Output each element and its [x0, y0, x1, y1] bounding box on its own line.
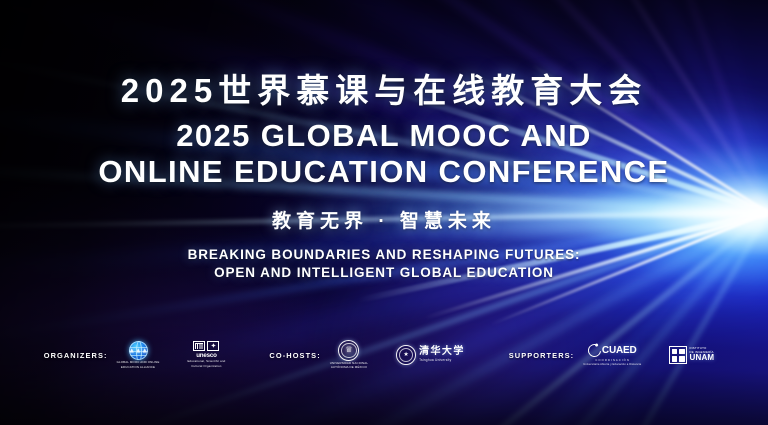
logo-group-organizers: ORGANIZERS: ▲▲▲ GLOBAL MOOC AND ONLINE E…	[44, 338, 236, 372]
logo-group-supporters: SUPPORTERS: CUAED C O O R D I N A C I Ó …	[509, 338, 725, 372]
subtitle-block: 教育无界 · 智慧未来 BREAKING BOUNDARIES AND RESH…	[0, 206, 768, 282]
logo-caption-line3: Cultural Organization	[191, 365, 221, 369]
conference-banner: 2025世界慕课与在线教育大会 2025 GLOBAL MOOC AND ONL…	[0, 0, 768, 425]
globe-icon: ▲▲▲	[125, 341, 151, 360]
logo-caption-line2: Universitaria Abierta y Educación a Dist…	[583, 363, 641, 366]
cuaed-ring-icon: CUAED C O O R D I N A C I Ó N Universita…	[583, 344, 641, 365]
tsinghua-wordmark-english: Tsinghua University	[419, 359, 465, 362]
four-square-grid-icon: INSTITUTO DE INGENIERÍA UNAM	[669, 346, 714, 364]
logo-cuaed[interactable]: CUAED C O O R D I N A C I Ó N Universita…	[583, 340, 641, 370]
cuaed-wordmark: CUAED	[602, 346, 637, 356]
logo-bar: ORGANIZERS: ▲▲▲ GLOBAL MOOC AND ONLINE E…	[0, 338, 768, 372]
group-label-supporters: SUPPORTERS:	[509, 351, 574, 360]
unam-wordmark: UNAM	[689, 354, 714, 362]
logo-caption-line2: AUTÓNOMA DE MÉXICO	[331, 366, 367, 370]
unam-seal-icon: ♕	[338, 340, 359, 361]
unesco-wordmark: unesco	[196, 352, 216, 359]
group-label-cohosts: CO-HOSTS:	[269, 351, 320, 360]
subtitle-english-line1: BREAKING BOUNDARIES AND RESHAPING FUTURE…	[0, 246, 768, 264]
tsinghua-seal-icon: ★ 清华大学 Tsinghua University	[396, 345, 465, 365]
page-title-english-line2: ONLINE EDUCATION CONFERENCE	[0, 154, 768, 190]
page-title-english-line1: 2025 GLOBAL MOOC AND	[0, 118, 768, 154]
logo-tsinghua-university[interactable]: ★ 清华大学 Tsinghua University	[396, 340, 465, 370]
tsinghua-wordmark-chinese: 清华大学	[419, 347, 465, 357]
subtitle-english-line2: OPEN AND INTELLIGENT GLOBAL EDUCATION	[0, 264, 768, 282]
page-title-english: 2025 GLOBAL MOOC AND ONLINE EDUCATION CO…	[0, 118, 768, 190]
logo-caption-line1: GLOBAL MOOC AND ONLINE	[117, 361, 160, 365]
logo-instituto-de-ingenieria-unam[interactable]: INSTITUTO DE INGENIERÍA UNAM	[669, 340, 714, 370]
unesco-temple-icon: ✦ unesco	[190, 341, 223, 359]
logo-unam[interactable]: ♕ UNIVERSIDAD NACIONAL AUTÓNOMA DE MÉXIC…	[330, 340, 368, 370]
logo-global-mooc-alliance[interactable]: ▲▲▲ GLOBAL MOOC AND ONLINE EDUCATION ALL…	[117, 340, 160, 370]
group-label-organizers: ORGANIZERS:	[44, 351, 108, 360]
logo-caption-line1: C O O R D I N A C I Ó N	[595, 359, 629, 362]
title-block: 2025世界慕课与在线教育大会 2025 GLOBAL MOOC AND ONL…	[0, 74, 768, 190]
logo-unesco[interactable]: ✦ unesco Educational, Scientific and Cul…	[187, 340, 225, 370]
page-title-chinese: 2025世界慕课与在线教育大会	[0, 74, 768, 109]
subtitle-english: BREAKING BOUNDARIES AND RESHAPING FUTURE…	[0, 246, 768, 282]
subtitle-chinese: 教育无界 · 智慧未来	[0, 206, 768, 233]
logo-group-cohosts: CO-HOSTS: ♕ UNIVERSIDAD NACIONAL AUTÓNOM…	[269, 338, 474, 372]
logo-caption-line2: EDUCATION ALLIANCE	[121, 366, 155, 370]
